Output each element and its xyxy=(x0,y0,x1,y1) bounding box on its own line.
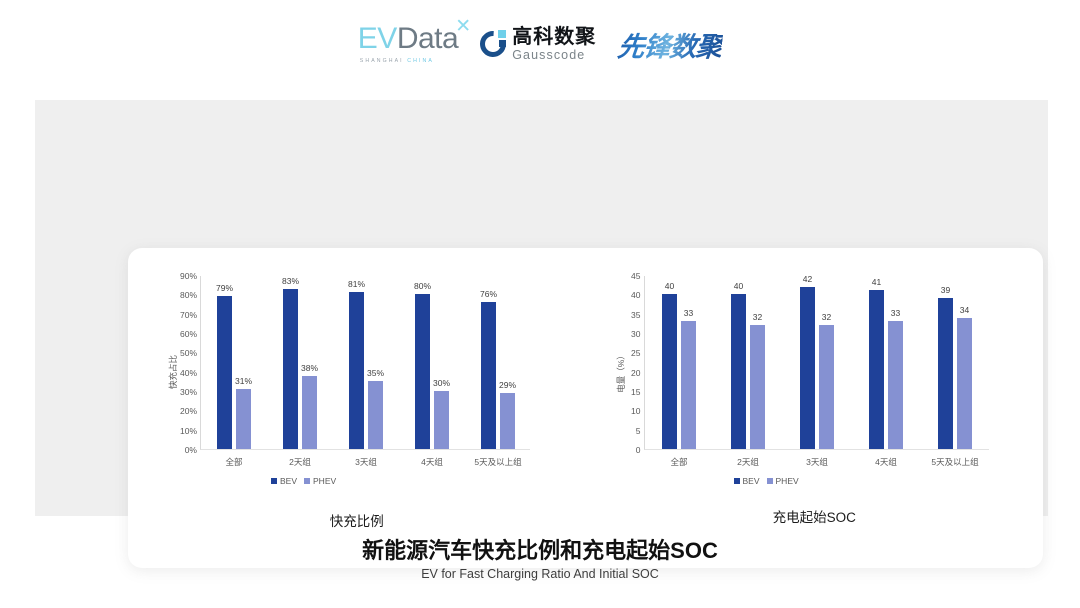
gausscode-logo: 高科数聚 Gausscode xyxy=(480,27,596,62)
bar-bev[interactable]: 76% xyxy=(481,302,496,449)
legend-swatch-bev xyxy=(734,478,740,484)
x-axis-category-label: 3天组 xyxy=(806,456,828,468)
initial-soc-chart: 电量（%）0510152025303540454033全部40322天组4232… xyxy=(586,248,1044,568)
charts-container: 快充占比0%10%20%30%40%50%60%70%80%90%79%31%全… xyxy=(128,248,1043,568)
y-axis-tick-label: 0 xyxy=(636,445,641,455)
bar-group: 81%35%3天组 xyxy=(333,276,399,449)
bar-value-label: 33 xyxy=(891,308,900,318)
x-axis-category-label: 4天组 xyxy=(421,456,443,468)
x-axis-category-label: 4天组 xyxy=(875,456,897,468)
bar-group: 4033全部 xyxy=(645,276,714,449)
legend-swatch-phev xyxy=(767,478,773,484)
bar-group: 83%38%2天组 xyxy=(267,276,333,449)
evdata-tagline: SHANGHAI CHINA xyxy=(360,58,434,64)
chart-caption: 充电起始SOC xyxy=(586,506,1044,526)
y-axis-tick-label: 90% xyxy=(180,271,197,281)
bar-value-label: 83% xyxy=(282,276,299,286)
evdata-cross-icon: ✕ xyxy=(455,17,471,36)
x-axis-category-label: 2天组 xyxy=(289,456,311,468)
page-subtitle: EV for Fast Charging Ratio And Initial S… xyxy=(0,567,1080,581)
x-axis-category-label: 3天组 xyxy=(355,456,377,468)
logo-header: EV Data ✕ SHANGHAI CHINA 高科数聚 Gausscode … xyxy=(0,24,1080,64)
bar-value-label: 41 xyxy=(872,277,881,287)
y-axis-tick-label: 20% xyxy=(180,406,197,416)
bar-bev[interactable]: 40 xyxy=(731,294,746,449)
y-axis-tick-label: 80% xyxy=(180,290,197,300)
slide-body-panel: 快充占比0%10%20%30%40%50%60%70%80%90%79%31%全… xyxy=(35,100,1048,516)
evdata-wordmark: EV Data ✕ xyxy=(358,24,458,54)
bar-bev[interactable]: 83% xyxy=(283,289,298,449)
legend-label-bev: BEV xyxy=(743,476,760,486)
legend-item-phev[interactable]: PHEV xyxy=(304,476,336,486)
y-axis-tick-label: 35 xyxy=(631,310,640,320)
chart-legend: BEVPHEV xyxy=(734,476,799,486)
y-axis-tick-label: 10 xyxy=(631,406,640,416)
evdata-logo: EV Data ✕ SHANGHAI CHINA xyxy=(358,24,458,64)
bar-value-label: 29% xyxy=(499,380,516,390)
bar-value-label: 81% xyxy=(348,279,365,289)
y-axis-title: 快充占比 xyxy=(167,355,179,389)
bar-phev[interactable]: 31% xyxy=(236,389,251,449)
legend-label-phev: PHEV xyxy=(776,476,799,486)
y-axis-tick-label: 15 xyxy=(631,387,640,397)
bar-bev[interactable]: 80% xyxy=(415,294,430,449)
bar-bev[interactable]: 40 xyxy=(662,294,677,449)
bar-group: 42323天组 xyxy=(783,276,852,449)
bar-value-label: 38% xyxy=(301,363,318,373)
bar-phev[interactable]: 35% xyxy=(368,381,383,449)
y-axis-tick-label: 10% xyxy=(180,426,197,436)
y-axis-tick-label: 20 xyxy=(631,368,640,378)
y-axis-tick-label: 30% xyxy=(180,387,197,397)
y-axis-tick-label: 60% xyxy=(180,329,197,339)
evdata-tagline-city: SHANGHAI xyxy=(360,58,404,64)
bar-value-label: 79% xyxy=(216,283,233,293)
y-axis-tick-label: 45 xyxy=(631,271,640,281)
bar-phev[interactable]: 30% xyxy=(434,391,449,449)
x-axis-category-label: 5天及以上组 xyxy=(474,456,521,468)
charts-card: 快充占比0%10%20%30%40%50%60%70%80%90%79%31%全… xyxy=(128,248,1043,568)
evdata-data-text: Data xyxy=(397,24,458,54)
fast-charging-ratio-chart: 快充占比0%10%20%30%40%50%60%70%80%90%79%31%全… xyxy=(128,248,586,568)
bar-value-label: 32 xyxy=(753,312,762,322)
y-axis-tick-label: 70% xyxy=(180,310,197,320)
y-axis-tick-label: 30 xyxy=(631,329,640,339)
x-axis-category-label: 全部 xyxy=(225,456,242,468)
legend-item-phev[interactable]: PHEV xyxy=(767,476,799,486)
y-axis-tick-label: 50% xyxy=(180,348,197,358)
x-axis-category-label: 5天及以上组 xyxy=(931,456,978,468)
y-axis-tick-label: 0% xyxy=(185,445,197,455)
xianfeng-logo: 先锋数聚 xyxy=(616,25,724,64)
bar-value-label: 31% xyxy=(235,376,252,386)
bar-group: 79%31%全部 xyxy=(201,276,267,449)
gausscode-inner-square xyxy=(499,40,506,47)
bar-phev[interactable]: 33 xyxy=(888,321,903,449)
bar-phev[interactable]: 38% xyxy=(302,376,317,449)
bar-group: 76%29%5天及以上组 xyxy=(465,276,531,449)
bar-value-label: 35% xyxy=(367,368,384,378)
bar-value-label: 30% xyxy=(433,378,450,388)
bar-group: 40322天组 xyxy=(714,276,783,449)
bar-value-label: 34 xyxy=(960,305,969,315)
bar-phev[interactable]: 34 xyxy=(957,318,972,449)
bar-group: 41334天组 xyxy=(852,276,921,449)
bar-phev[interactable]: 33 xyxy=(681,321,696,449)
bar-bev[interactable]: 42 xyxy=(800,287,815,449)
x-axis-category-label: 2天组 xyxy=(737,456,759,468)
legend-label-bev: BEV xyxy=(280,476,297,486)
bar-bev[interactable]: 79% xyxy=(217,296,232,449)
bar-bev[interactable]: 81% xyxy=(349,292,364,449)
legend-item-bev[interactable]: BEV xyxy=(271,476,297,486)
bar-group: 80%30%4天组 xyxy=(399,276,465,449)
bar-value-label: 33 xyxy=(684,308,693,318)
legend-swatch-phev xyxy=(304,478,310,484)
legend-item-bev[interactable]: BEV xyxy=(734,476,760,486)
bar-value-label: 32 xyxy=(822,312,831,322)
bar-phev[interactable]: 29% xyxy=(500,393,515,449)
bar-bev[interactable]: 41 xyxy=(869,290,884,449)
bar-value-label: 42 xyxy=(803,274,812,284)
chart-legend: BEVPHEV xyxy=(271,476,336,486)
evdata-tagline-country: CHINA xyxy=(407,58,434,64)
y-axis-tick-label: 5 xyxy=(636,426,641,436)
bar-group: 39345天及以上组 xyxy=(921,276,990,449)
y-axis-tick-label: 40% xyxy=(180,368,197,378)
chart-caption: 快充比例 xyxy=(128,510,586,530)
y-axis-tick-label: 25 xyxy=(631,348,640,358)
bar-bev[interactable]: 39 xyxy=(938,298,953,449)
bar-value-label: 76% xyxy=(480,289,497,299)
evdata-ev-text: EV xyxy=(358,24,397,54)
x-axis-category-label: 全部 xyxy=(670,456,687,468)
page-title: 新能源汽车快充比例和充电起始SOC xyxy=(0,533,1080,565)
gausscode-wordmark: 高科数聚 Gausscode xyxy=(512,27,596,62)
bar-phev[interactable]: 32 xyxy=(819,325,834,449)
bar-value-label: 40 xyxy=(734,281,743,291)
gausscode-chinese-name: 高科数聚 xyxy=(512,27,596,47)
y-axis-title: 电量（%） xyxy=(614,351,626,393)
gausscode-g-mark-icon xyxy=(480,31,506,57)
plot-area: 0%10%20%30%40%50%60%70%80%90%79%31%全部83%… xyxy=(200,276,530,450)
gausscode-english-name: Gausscode xyxy=(512,49,596,62)
legend-label-phev: PHEV xyxy=(313,476,336,486)
bar-phev[interactable]: 32 xyxy=(750,325,765,449)
gausscode-accent-square xyxy=(498,30,506,38)
legend-swatch-bev xyxy=(271,478,277,484)
bar-value-label: 40 xyxy=(665,281,674,291)
bar-value-label: 80% xyxy=(414,281,431,291)
plot-area: 0510152025303540454033全部40322天组42323天组41… xyxy=(644,276,989,450)
y-axis-tick-label: 40 xyxy=(631,290,640,300)
bar-value-label: 39 xyxy=(941,285,950,295)
